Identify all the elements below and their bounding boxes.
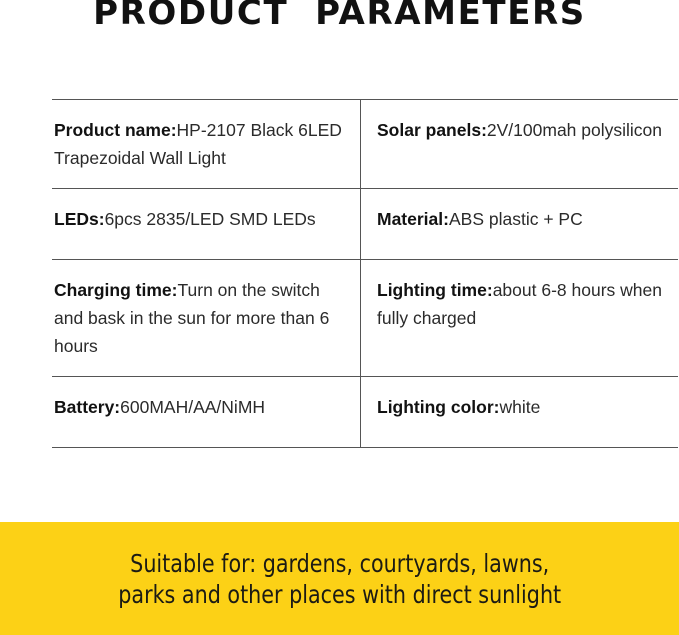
footer-banner-text: Suitable for: gardens, courtyards, lawns… — [105, 548, 574, 610]
table-cell-material: Material:ABS plastic + PC — [361, 189, 679, 260]
table-row: Product name:HP-2107 Black 6LED Trapezoi… — [52, 100, 678, 189]
product-parameters-table: Product name:HP-2107 Black 6LED Trapezoi… — [52, 99, 678, 448]
cell-label: LEDs: — [54, 209, 105, 229]
cell-label: Lighting time: — [377, 280, 493, 300]
cell-label: Solar panels: — [377, 120, 487, 140]
cell-label: Material: — [377, 209, 449, 229]
table-cell-lighting-color: Lighting color:white — [361, 377, 679, 448]
footer-banner: Suitable for: gardens, courtyards, lawns… — [0, 522, 679, 635]
table-row: LEDs:6pcs 2835/LED SMD LEDs Material:ABS… — [52, 189, 678, 260]
cell-value: 600MAH/AA/NiMH — [120, 397, 265, 417]
table-cell-product-name: Product name:HP-2107 Black 6LED Trapezoi… — [52, 100, 361, 189]
cell-label: Product name: — [54, 120, 177, 140]
table-row: Battery:600MAH/AA/NiMH Lighting color:wh… — [52, 377, 678, 448]
table-cell-charging-time: Charging time:Turn on the switch and bas… — [52, 260, 361, 377]
cell-label: Charging time: — [54, 280, 177, 300]
table-row: Charging time:Turn on the switch and bas… — [52, 260, 678, 377]
cell-value: ABS plastic + PC — [449, 209, 583, 229]
table-cell-battery: Battery:600MAH/AA/NiMH — [52, 377, 361, 448]
table-cell-solar-panels: Solar panels:2V/100mah polysilicon — [361, 100, 679, 189]
cell-value: white — [499, 397, 540, 417]
table-body: Product name:HP-2107 Black 6LED Trapezoi… — [52, 100, 678, 448]
cell-value: 2V/100mah polysilicon — [487, 120, 662, 140]
cell-label: Battery: — [54, 397, 120, 417]
cell-value: 6pcs 2835/LED SMD LEDs — [105, 209, 316, 229]
cell-label: Lighting color: — [377, 397, 499, 417]
table-cell-leds: LEDs:6pcs 2835/LED SMD LEDs — [52, 189, 361, 260]
table-cell-lighting-time: Lighting time:about 6-8 hours when fully… — [361, 260, 679, 377]
page-title: PRODUCT PARAMETERS — [0, 0, 679, 34]
